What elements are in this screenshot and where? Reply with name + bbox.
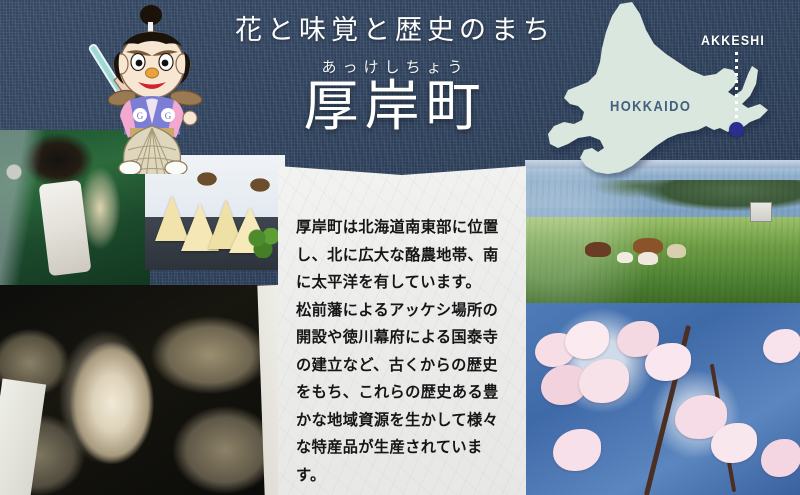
banner-stage: HOKKAIDO AKKESHI <box>0 0 800 495</box>
horse <box>667 244 686 258</box>
description-paragraph: 厚岸町は北海道南東部に位置し、北に広大な酪農地帯、南に太平洋を有しています。 <box>296 214 512 297</box>
description-paragraph: 松前藩によるアッケシ場所の開設や徳川幕府による国泰寺の建立など、古くからの歴史を… <box>296 297 512 490</box>
description-text: 厚岸町は北海道南東部に位置し、北に広大な酪農地帯、南に太平洋を有しています。 松… <box>296 214 512 489</box>
sakura-petal <box>553 429 601 471</box>
sakura-petal <box>645 343 691 381</box>
parsley-garnish <box>247 228 281 258</box>
tagline: 花と味覚と歴史のまち <box>215 8 575 47</box>
photo-pasture <box>525 160 800 303</box>
horse <box>617 252 633 263</box>
sakura-petal <box>711 423 757 463</box>
mascot-character: G G <box>86 2 216 174</box>
header-block: 花と味覚と歴史のまち あっけしちょう 厚岸町 <box>215 8 575 135</box>
horse <box>638 252 658 265</box>
sakura-petal <box>763 329 800 363</box>
map-label-hokkaido: HOKKAIDO <box>610 98 691 115</box>
map-location-marker <box>729 122 744 137</box>
description-panel: 厚岸町は北海道南東部に位置し、北に広大な酪農地帯、南に太平洋を有しています。 松… <box>278 166 526 495</box>
sakura-petal <box>565 321 609 359</box>
horse <box>585 242 611 257</box>
svg-text:G: G <box>137 111 144 121</box>
pasture-signpost <box>750 202 772 222</box>
photo-oysters <box>0 285 285 495</box>
sakura-petal <box>579 359 629 403</box>
svg-text:G: G <box>165 111 172 121</box>
map-label-akkeshi: AKKESHI <box>701 32 765 48</box>
photo-sakura <box>525 303 800 495</box>
map-leader-line <box>735 52 738 124</box>
sakura-petal <box>761 439 800 477</box>
town-name-reading: あっけしちょう <box>215 56 575 77</box>
page-title: 厚岸町 <box>215 79 575 135</box>
